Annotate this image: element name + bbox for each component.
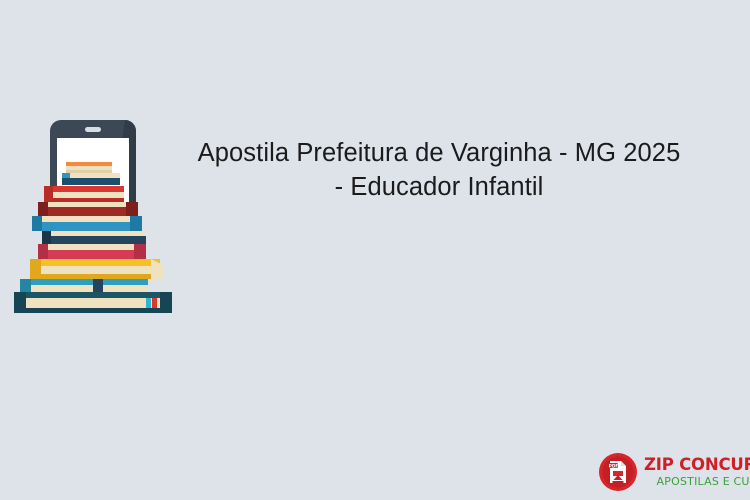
book-teal [20,279,148,292]
book-orange-top [66,162,112,173]
book-darkred [38,202,138,216]
book-yellow [30,259,163,279]
book-crimson [38,244,146,259]
book-navy-mid [42,231,146,244]
logo-wordmark: ZIP CONCURSOS APOSTILAS E CURSOS [644,457,750,488]
page-title-text: Apostila Prefeitura de Varginha - MG 202… [196,136,682,204]
page-title: Apostila Prefeitura de Varginha - MG 202… [196,136,682,204]
zip-concursos-logo[interactable]: PDF ZIP CONCURSOS APOSTILAS E CURSOS [598,450,744,494]
svg-text:PDF: PDF [609,463,619,468]
book-navy-upper [62,173,120,185]
poster-canvas: Apostila Prefeitura de Varginha - MG 202… [0,0,750,500]
book-blue-mid [32,216,142,231]
logo-primary-text: ZIP CONCURSOS [644,457,750,474]
stack-of-books-illustration [8,118,188,313]
book-red-upper [44,186,124,202]
pdf-download-circle-icon: PDF [598,452,638,492]
logo-secondary-text: APOSTILAS E CURSOS [644,476,750,487]
book-base-darkteal [14,292,172,313]
